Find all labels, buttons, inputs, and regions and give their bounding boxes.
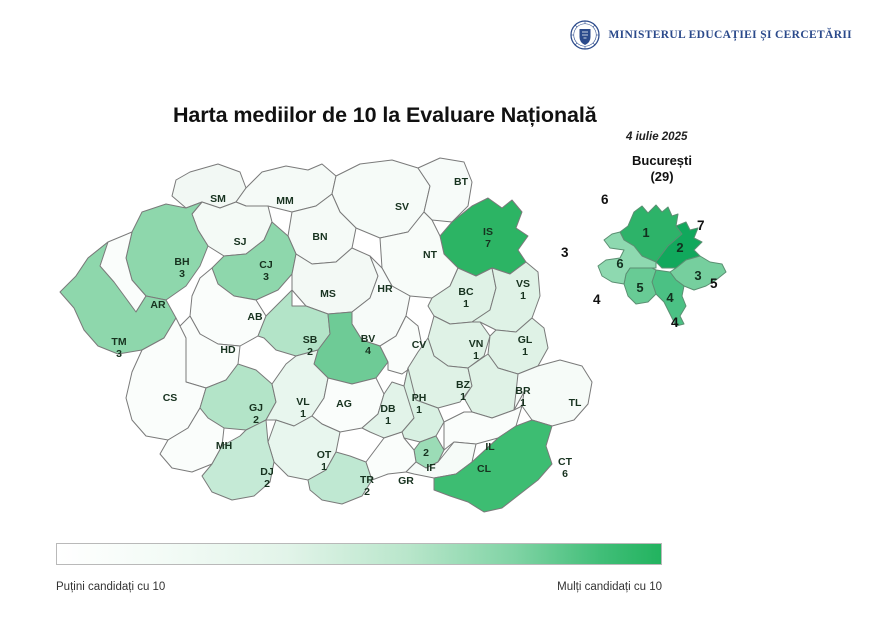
- bucharest-name: București: [632, 153, 692, 168]
- bucharest-sector-1-value: 6: [601, 192, 609, 207]
- bucharest-sector-number-6: 6: [616, 256, 623, 271]
- ministry-label: MINISTERUL EDUCAȚIEI ȘI CERCETĂRII: [608, 29, 852, 41]
- legend-low-label: Puțini candidați cu 10: [56, 581, 165, 593]
- bucharest-total: (29): [612, 169, 712, 185]
- county-sm: [172, 164, 246, 208]
- legend-high-label: Mulți candidați cu 10: [557, 581, 662, 593]
- bucharest-sector-number-3: 3: [694, 268, 701, 283]
- legend-gradient-bar: [56, 543, 662, 565]
- bucharest-sector-4-value: 5: [710, 276, 718, 291]
- bucharest-inset-map: 1 2 3 4 5 6: [590, 190, 735, 335]
- bucharest-sector-number-5: 5: [636, 280, 643, 295]
- bucharest-sector-2-value: 7: [697, 218, 705, 233]
- ministry-emblem-icon: [570, 20, 600, 50]
- ministry-header: MINISTERUL EDUCAȚIEI ȘI CERCETĂRII: [570, 20, 852, 50]
- bucharest-sector-number-1: 1: [642, 225, 649, 240]
- page-title: Harta mediilor de 10 la Evaluare Naționa…: [173, 103, 597, 128]
- romania-choropleth-map: SMMMSVBTSJBNIS7BH3CJ3MSNTHRBC1VS1ARABSB2…: [40, 150, 600, 520]
- date-stamp: 4 iulie 2025: [626, 131, 687, 143]
- bucharest-sector-number-2: 2: [676, 240, 683, 255]
- poster-root: MINISTERUL EDUCAȚIEI ȘI CERCETĂRII Harta…: [0, 0, 870, 625]
- bucharest-sector-5-value: 4: [671, 315, 679, 330]
- bucharest-sector-number-4: 4: [666, 290, 674, 305]
- bucharest-inset-title: București (29): [612, 153, 712, 186]
